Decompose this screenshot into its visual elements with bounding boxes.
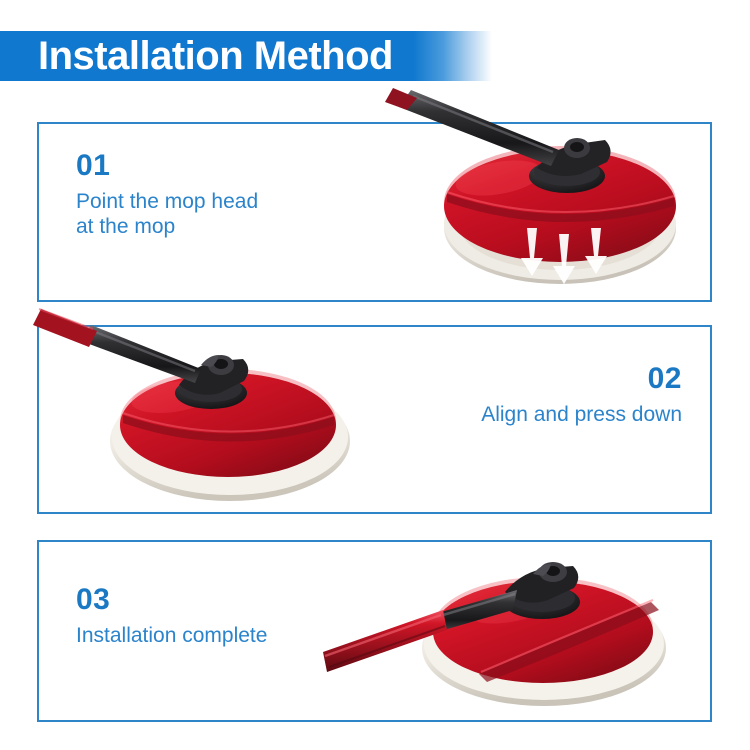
step-03-description: Installation complete (76, 623, 267, 649)
direction-arrows (521, 228, 607, 284)
step-01-text-block: 01 Point the mop head at the mop (76, 150, 258, 240)
step-card-02: 02 Align and press down (37, 325, 712, 514)
step-01-product-image (391, 106, 727, 304)
step-01-number: 01 (76, 150, 258, 182)
step-02-number: 02 (481, 363, 682, 395)
page-title: Installation Method (38, 30, 393, 82)
step-03-text-block: 03 Installation complete (76, 584, 267, 648)
step-card-03: 03 Installation complete (37, 540, 712, 722)
step-02-product-image (45, 329, 385, 514)
step-02-description: Align and press down (481, 402, 682, 428)
step-card-01: 01 Point the mop head at the mop (37, 122, 712, 302)
step-01-description: Point the mop head at the mop (76, 189, 258, 240)
step-03-product-image (329, 544, 721, 724)
step-02-text-block: 02 Align and press down (481, 363, 682, 427)
step-03-number: 03 (76, 584, 267, 616)
installation-method-page: Installation Method 01 Point the mop hea… (0, 0, 750, 750)
